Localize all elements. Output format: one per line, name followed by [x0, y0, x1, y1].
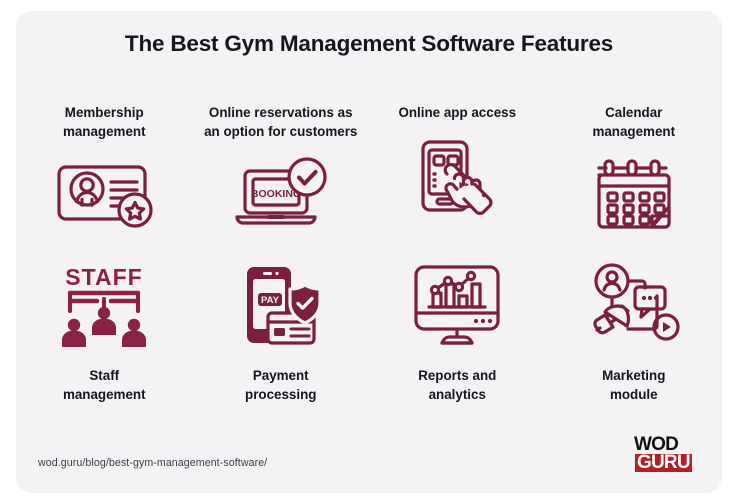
- feature-label: Online app access: [398, 103, 516, 122]
- smartphone-tap-icon: [409, 136, 505, 223]
- feature-label: Staff management: [63, 366, 146, 404]
- infographic-card: The Best Gym Management Software Feature…: [16, 11, 722, 493]
- feature-label: Payment processing: [245, 366, 316, 404]
- feature-label: Marketing module: [602, 366, 665, 404]
- feature-item-staff-management: STAFF Staff management: [16, 263, 193, 428]
- feature-item-membership-management: Membership management: [16, 103, 193, 253]
- feature-item-reports-analytics: Reports and analytics: [369, 263, 546, 428]
- monitor-chart-icon: [408, 263, 506, 352]
- feature-item-online-app-access: Online app access: [369, 103, 546, 253]
- brand-logo-wod: WOD: [634, 436, 700, 453]
- feature-item-payment-processing: PAY Payment processing: [193, 263, 370, 428]
- footer-url[interactable]: wod.guru/blog/best-gym-management-softwa…: [38, 457, 267, 469]
- feature-label: Calendar management: [592, 103, 675, 141]
- pay-button-text: PAY: [261, 295, 280, 306]
- calendar-icon: [589, 155, 679, 240]
- feature-label: Reports and analytics: [418, 366, 496, 404]
- feature-label: Online reservations as an option for cus…: [204, 103, 357, 141]
- page-title: The Best Gym Management Software Feature…: [16, 31, 722, 57]
- staff-org-icon: STAFF: [54, 263, 154, 352]
- feature-row-bottom: STAFF Staff management: [16, 263, 722, 428]
- brand-logo-guru: GURU: [635, 454, 692, 472]
- payment-phone-card-shield-icon: PAY: [235, 263, 327, 352]
- brand-logo[interactable]: WOD GURU: [634, 436, 700, 472]
- feature-label: Membership management: [63, 103, 146, 141]
- feature-item-online-reservations: Online reservations as an option for cus…: [193, 103, 370, 253]
- staff-icon-text: STAFF: [66, 264, 143, 290]
- megaphone-marketing-icon: [585, 263, 683, 352]
- membership-card-icon: [51, 155, 157, 236]
- laptop-booking-icon: BOOKING: [231, 155, 331, 240]
- feature-item-marketing-module: Marketing module: [546, 263, 723, 428]
- feature-item-calendar-management: Calendar management: [546, 103, 723, 253]
- feature-row-top: Membership management Onl: [16, 103, 722, 253]
